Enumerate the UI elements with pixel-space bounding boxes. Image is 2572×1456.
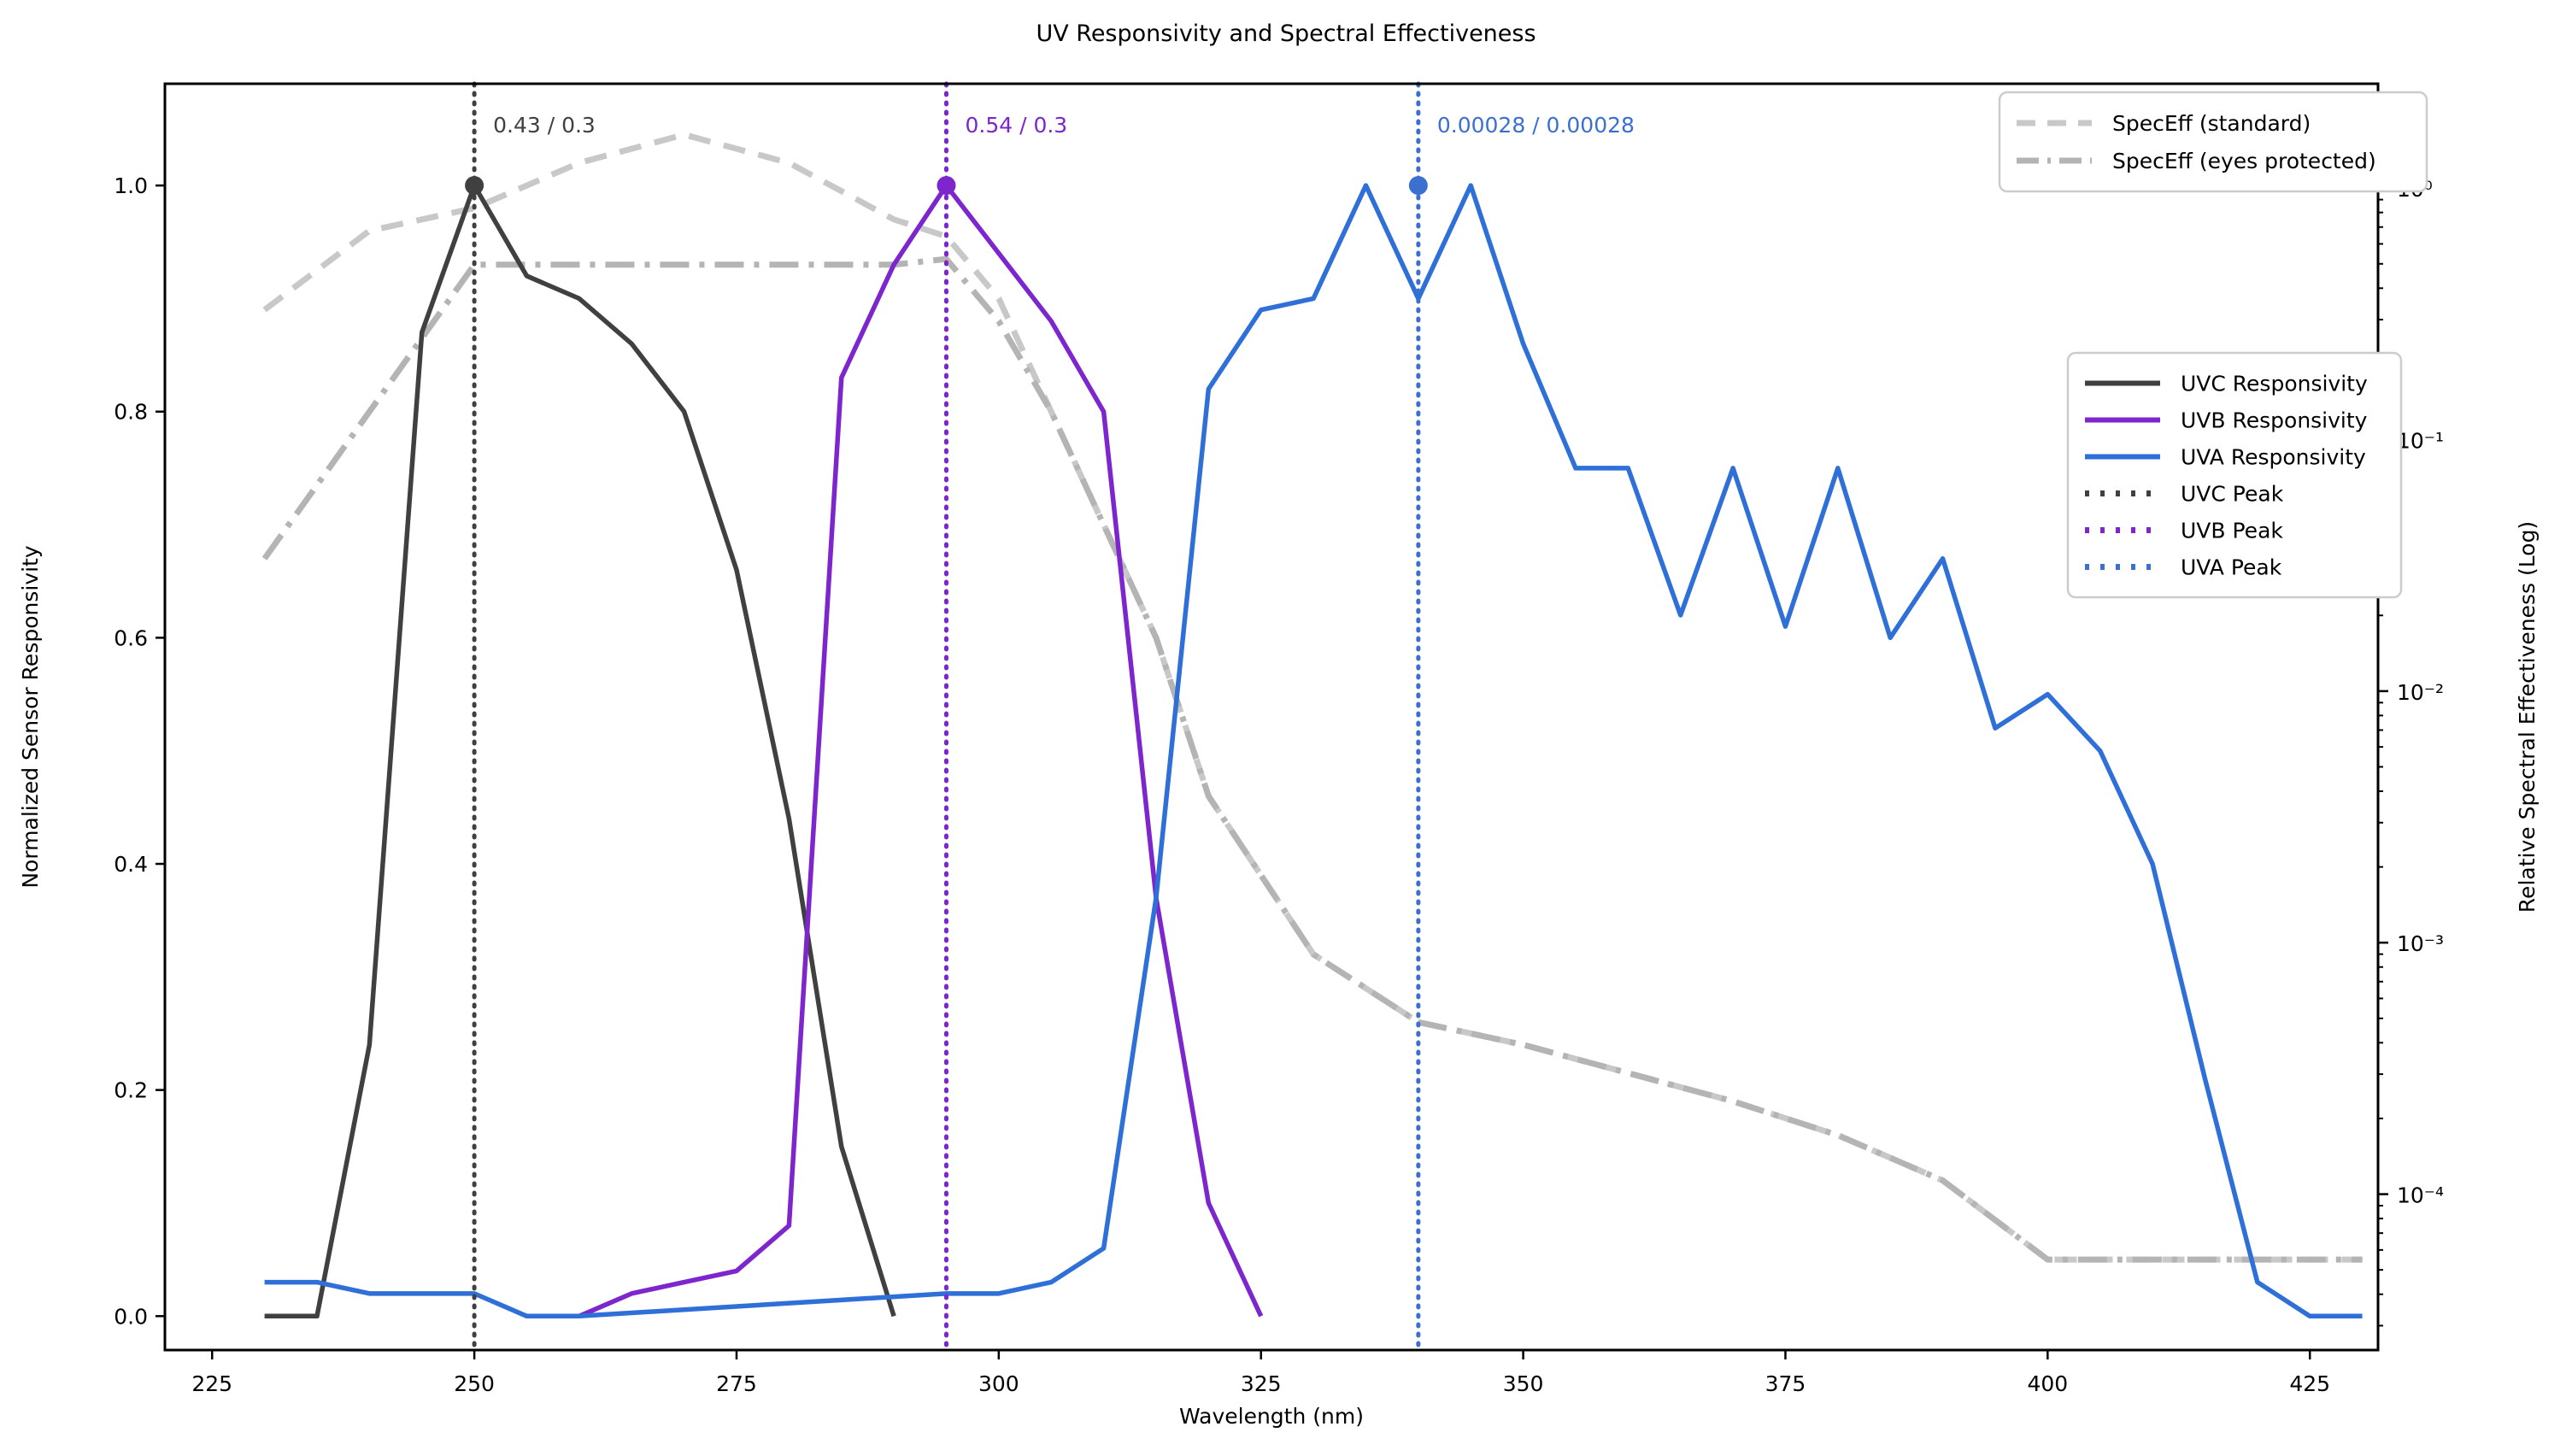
y-tick-label: 0.6	[114, 625, 148, 650]
legend-label: UVB Responsivity	[2181, 408, 2368, 433]
chart-canvas: 2252502753003253503754004250.00.20.40.60…	[0, 0, 2572, 1456]
legend-label: UVC Peak	[2181, 482, 2284, 507]
x-axis-label: Wavelength (nm)	[1179, 1404, 1364, 1429]
legend-label: UVC Responsivity	[2181, 372, 2368, 396]
peak-annotation-uvb: 0.54 / 0.3	[965, 113, 1067, 138]
x-tick-label: 350	[1503, 1371, 1544, 1396]
x-tick-label: 225	[191, 1371, 232, 1396]
legend-group: UVC ResponsivityUVB ResponsivityUVA Resp…	[2068, 353, 2401, 597]
x-tick-label: 325	[1241, 1371, 1282, 1396]
y2-tick-label: 10⁻³	[2397, 931, 2444, 956]
peak-marker-uvb	[937, 176, 955, 195]
legend-label: UVA Responsivity	[2181, 445, 2366, 470]
legend-group: SpecEff (standard)SpecEff (eyes protecte…	[1999, 92, 2427, 191]
y-tick-label: 0.4	[114, 852, 148, 877]
peak-marker-uvc	[465, 176, 484, 195]
legend-label: SpecEff (eyes protected)	[2112, 149, 2376, 173]
y-tick-label: 0.8	[114, 400, 148, 425]
y-tick-label: 1.0	[114, 173, 148, 198]
y2-tick-label: 10⁻¹	[2397, 429, 2444, 454]
y-tick-label: 0.0	[114, 1304, 148, 1329]
legend-label: SpecEff (standard)	[2112, 111, 2311, 136]
peak-marker-uva	[1409, 176, 1428, 195]
chart-title: UV Responsivity and Spectral Effectivene…	[1036, 21, 1536, 47]
y-tick-label: 0.2	[114, 1078, 148, 1103]
x-tick-label: 375	[1765, 1371, 1806, 1396]
y-axis-label: Normalized Sensor Responsivity	[18, 545, 43, 889]
x-tick-label: 275	[716, 1371, 757, 1396]
legend-label: UVB Peak	[2181, 519, 2283, 543]
peak-annotation-uvc: 0.43 / 0.3	[493, 113, 596, 138]
y2-tick-label: 10⁻⁴	[2397, 1183, 2444, 1208]
chart-figure: 2252502753003253503754004250.00.20.40.60…	[0, 0, 2572, 1456]
legend-label: UVA Peak	[2181, 555, 2282, 580]
y2-axis-label: Relative Spectral Effectiveness (Log)	[2515, 521, 2540, 913]
legend-box	[1999, 92, 2427, 191]
x-tick-label: 400	[2027, 1371, 2068, 1396]
plot-area	[165, 84, 2378, 1350]
x-tick-label: 425	[2289, 1371, 2330, 1396]
x-tick-label: 300	[978, 1371, 1019, 1396]
peak-annotation-uva: 0.00028 / 0.00028	[1437, 113, 1635, 138]
x-tick-label: 250	[454, 1371, 495, 1396]
y2-tick-label: 10⁻²	[2397, 680, 2444, 705]
